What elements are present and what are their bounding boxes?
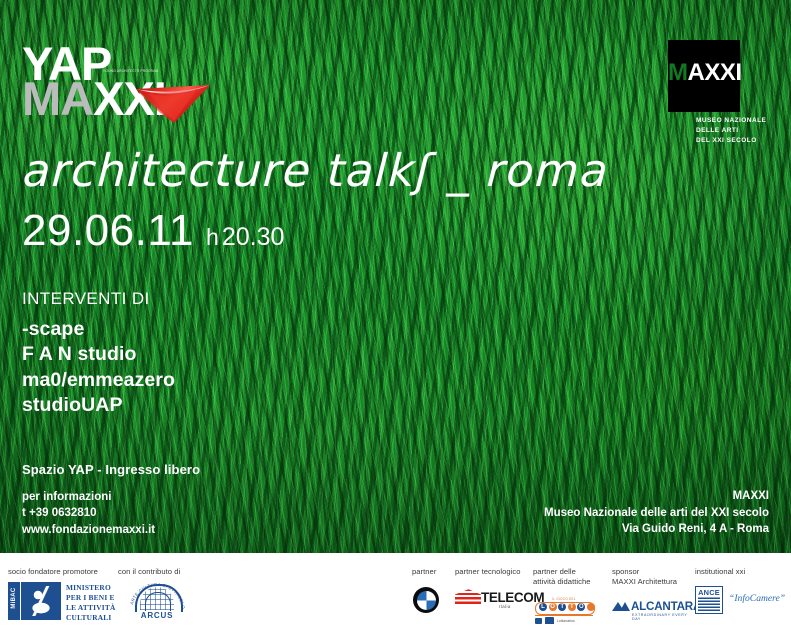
maxxi-museum-badge: MAXXI [668, 40, 740, 112]
telecom-logo: TELECOM Italia [455, 588, 527, 610]
arcus-wordmark: ARCUS [118, 611, 196, 620]
address-block: MAXXI Museo Nazionale delle arti del XXI… [544, 488, 769, 538]
sponsor-footer: socio fondatore promotore MiBAC MINISTER… [0, 553, 791, 633]
lotto-ball: T [558, 603, 566, 611]
speakers-label: INTERVENTI DI [22, 289, 175, 309]
page-title: architecture talkʃ _ roma [22, 144, 611, 197]
footer-group-sponsor: sponsor MAXXI Architettura ALCANTARA EXT… [612, 567, 694, 621]
footer-caption: con il contributo di [118, 567, 196, 577]
footer-caption: institutional xxi [695, 567, 787, 577]
lotto-ball: L [539, 603, 547, 611]
footer-group-partner: partner [412, 567, 439, 613]
telecom-sub: Italia [499, 604, 511, 609]
lotto-rule [535, 615, 593, 616]
lotto-ball: T [568, 603, 576, 611]
lotto-balls: L O T T O [539, 603, 595, 611]
mibac-side-text: MiBAC [11, 582, 17, 614]
info-phone: t +39 0632810 [22, 505, 155, 521]
footer-group-partner-didattiche: partner delle attività didattiche IL GIO… [533, 567, 595, 626]
footer-caption: partner [412, 567, 439, 577]
mibac-line-3: LE ATTIVITÀ [66, 603, 116, 613]
alcantara-logo: ALCANTARA EXTRAORDINARY EVERY DAY [612, 599, 694, 621]
lotto-footer-row: Lottomatica [535, 617, 593, 625]
alcantara-wordmark: ALCANTARA [631, 600, 701, 613]
bmw-logo [413, 587, 439, 613]
footer-caption-line-2: MAXXI Architettura [612, 577, 694, 587]
mibac-line-2: PER I BENI E [66, 593, 116, 603]
yap-maxxi-logo: YAP YOUNG ARCHITECTS PROGRAM MAXXI [22, 40, 272, 120]
svg-text:ARTE CULTURA SPETTACOLO: ARTE CULTURA SPETTACOLO [129, 582, 185, 610]
speaker-item: -scape [22, 317, 175, 342]
footer-group-contributo: con il contributo di ARTE CULTURA SPETTA… [118, 567, 196, 620]
maxxi-badge-m: M [668, 59, 688, 86]
event-hour-label: h [206, 224, 219, 250]
telecom-stripes-icon [455, 589, 481, 604]
maxxi-subtitle-line-3: DEL XXI SECOLO [696, 136, 766, 146]
venue-line: Spazio YAP - Ingresso libero [22, 462, 200, 477]
mibac-line-1: MINISTERO [66, 583, 116, 593]
info-block: per informazioni t +39 0632810 www.fonda… [22, 489, 155, 538]
mibac-text: MINISTERO PER I BENI E LE ATTIVITÀ CULTU… [66, 583, 116, 622]
maxxi-badge-axxi: AXXI [688, 59, 742, 86]
footer-caption: partner tecnologico [455, 567, 527, 577]
ance-wordmark: ANCE [696, 588, 722, 597]
maxxi-subtitle-line-2: DELLE ARTI [696, 126, 766, 136]
footer-caption-line-1: partner delle [533, 567, 595, 577]
address-name: MAXXI [544, 488, 769, 505]
maxxi-badge-subtitle: MUSEO NAZIONALE DELLE ARTI DEL XXI SECOL… [696, 116, 766, 146]
lotto-foot-text: Lottomatica [557, 619, 575, 623]
arcus-ring-text: ARTE CULTURA SPETTACOLO [129, 582, 185, 612]
footer-group-partner-tecnologico: partner tecnologico TELECOM Italia [455, 567, 527, 610]
speakers-block: INTERVENTI DI -scape F A N studio ma0/em… [22, 289, 175, 418]
lotto-ball-blank [587, 603, 595, 611]
footer-caption-line-2: attività didattiche [533, 577, 595, 587]
lotto-ball: O [549, 603, 557, 611]
mibac-side-bar: MiBAC [8, 582, 20, 620]
speaker-item: studioUAP [22, 393, 175, 418]
ance-logo: ANCE [695, 586, 723, 614]
event-date: 29.06.11 [22, 206, 194, 255]
event-date-row: 29.06.11h20.30 [22, 206, 284, 256]
footer-caption-line-1: sponsor [612, 567, 694, 577]
alcantara-sub: EXTRAORDINARY EVERY DAY [632, 613, 694, 621]
red-cone-icon [134, 82, 212, 126]
lotto-square-icon [535, 618, 542, 624]
info-label: per informazioni [22, 489, 155, 505]
info-website[interactable]: www.fondazionemaxxi.it [22, 522, 155, 538]
speaker-item: ma0/emmeazero [22, 368, 175, 393]
alcantara-triangle-icon-2 [620, 602, 630, 611]
lotto-top-text: IL GIOCO DEL [537, 597, 591, 601]
mibac-line-4: CULTURALI [66, 613, 116, 623]
lotto-ball: O [577, 603, 585, 611]
footer-group-institutional: institutional xxi ANCE “InfoCamere” [695, 567, 787, 614]
ance-bars-icon [698, 597, 720, 611]
mibac-emblem-art-icon [25, 586, 57, 616]
institutional-logos-row: ANCE “InfoCamere” [695, 586, 787, 614]
lotto-building-icon [545, 617, 554, 624]
maxxi-subtitle-line-1: MUSEO NAZIONALE [696, 116, 766, 126]
maxxi-badge-wordmark: MAXXI [668, 61, 740, 85]
lotto-logo: IL GIOCO DEL L O T T O Lottomatica [533, 600, 595, 626]
mibac-emblem [21, 582, 61, 620]
maxxi-ma-part: MA [22, 72, 93, 125]
poster-root: YAP YOUNG ARCHITECTS PROGRAM MAXXI [0, 0, 791, 633]
arcus-logo: ARTE CULTURA SPETTACOLO ARCUS [118, 580, 196, 620]
address-street: Via Guido Reni, 4 A - Roma [544, 521, 769, 538]
address-full-name: Museo Nazionale delle arti del XXI secol… [544, 505, 769, 522]
speaker-item: F A N studio [22, 342, 175, 367]
event-time: 20.30 [222, 223, 285, 251]
infocamere-wordmark: “InfoCamere” [729, 593, 785, 604]
bmw-roundel-icon [417, 591, 436, 610]
